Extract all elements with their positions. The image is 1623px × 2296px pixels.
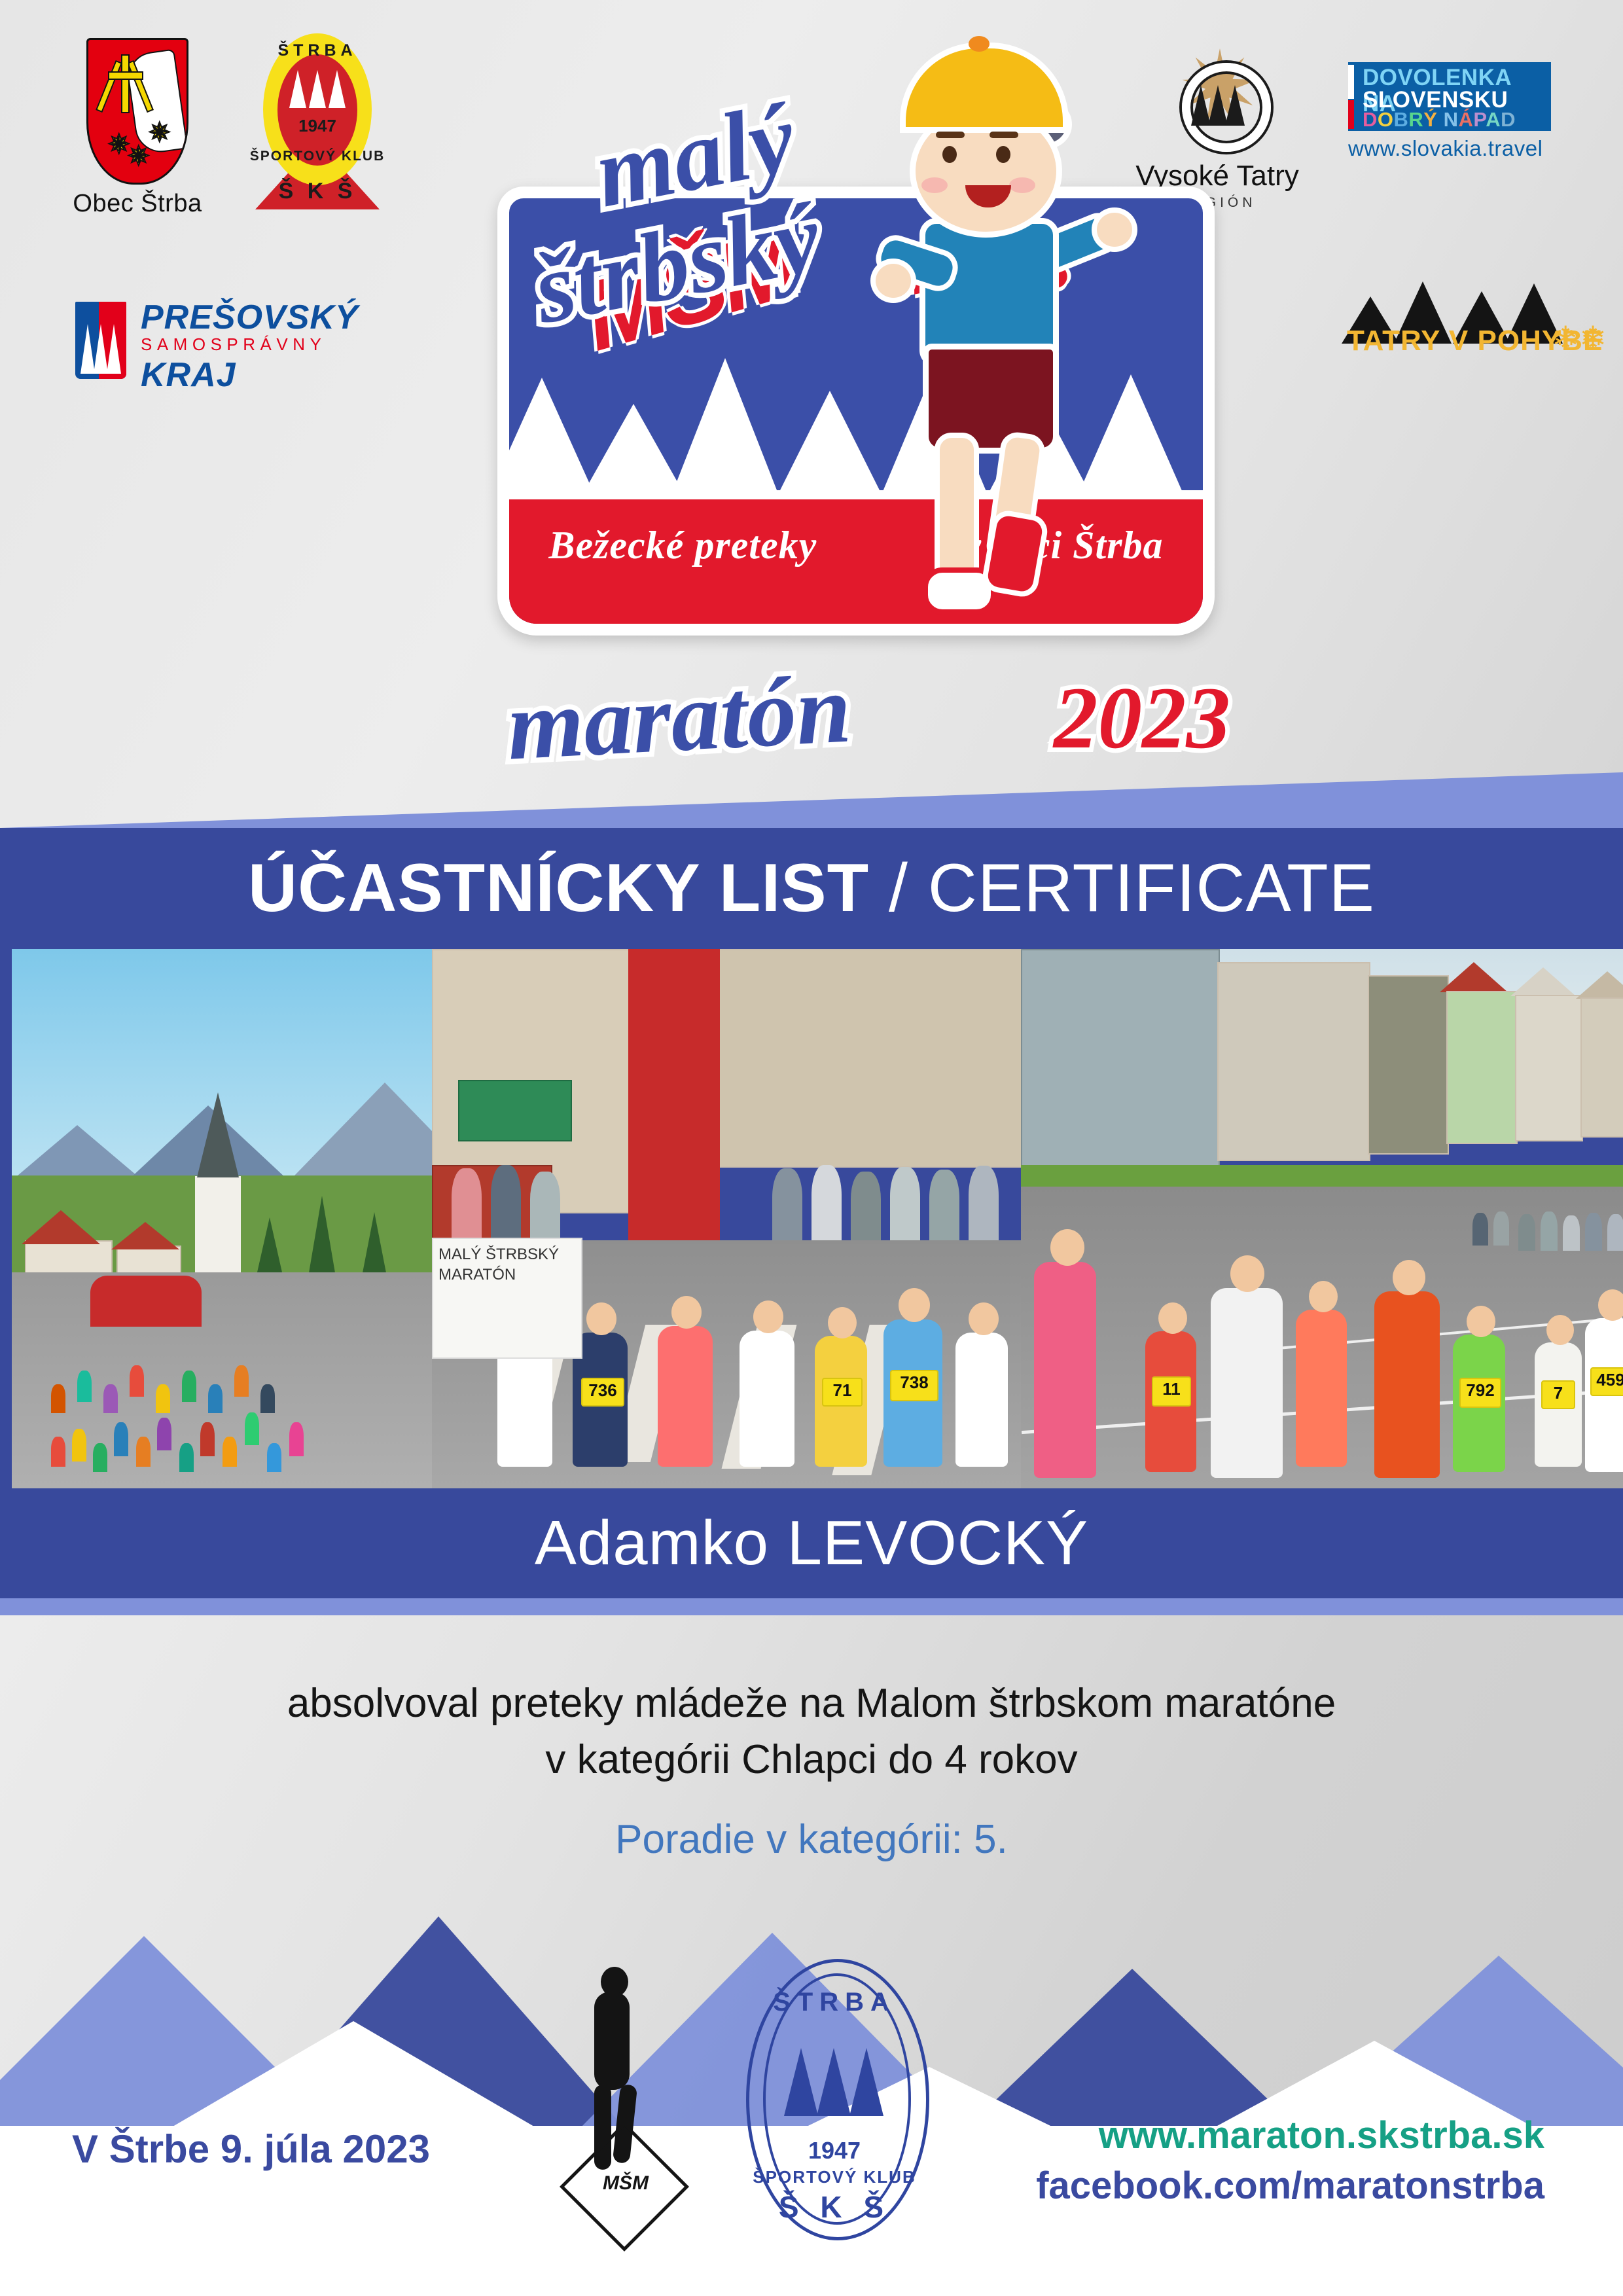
- psk-line3: KRAJ: [141, 355, 236, 395]
- coat-of-arms-icon: ✵ ✵ ✵: [86, 38, 188, 185]
- mountain-icon: [289, 63, 346, 108]
- race-bib: 7: [1541, 1380, 1575, 1409]
- title-secondary: CERTIFICATE: [928, 850, 1375, 926]
- msm-runner-label: MŠM: [586, 2172, 665, 2195]
- certificate-body: absolvoval preteky mládeže na Malom štrb…: [0, 1676, 1623, 1787]
- footer-date: V Štrbe 9. júla 2023: [72, 2126, 430, 2172]
- page-title: ÚČASTNÍCKY LIST / CERTIFICATE: [248, 850, 1375, 927]
- category-rank: Poradie v kategórii: 5.: [0, 1816, 1623, 1863]
- event-year: 2023: [1054, 668, 1230, 769]
- photo-youth-race-start: 736 71 738 MALÝ ŠTRBSKÝ MARATÓN: [432, 949, 1021, 1488]
- sponsor-logo-sks-strba: ŠTRBA 1947 ŠPORTOVÝ KLUB Š K Š: [249, 29, 386, 209]
- race-bib: 459: [1590, 1367, 1623, 1396]
- mascot-boy-icon: [844, 36, 1126, 625]
- sks-footer-top: ŠTRBA: [726, 1988, 942, 2017]
- psk-line1: PREŠOVSKÝ: [141, 298, 359, 337]
- race-bib: 736: [581, 1378, 624, 1407]
- race-bib: 792: [1459, 1378, 1501, 1408]
- photo-village-aerial: [12, 949, 444, 1488]
- race-bib: 71: [822, 1378, 863, 1407]
- participant-name-band: Adamko LEVOCKÝ: [0, 1488, 1623, 1598]
- event-word-maraton: maratón: [505, 652, 853, 782]
- sks-top-arc: ŠTRBA: [249, 41, 386, 60]
- sks-bottom-arc: ŠPORTOVÝ KLUB: [249, 149, 386, 164]
- decorative-wedge-top: [0, 772, 1623, 828]
- decorative-wedge-name: [0, 1598, 1623, 1615]
- psk-mark-icon: [75, 302, 126, 379]
- footer-facebook-link[interactable]: facebook.com/maratonstrba: [1036, 2164, 1544, 2208]
- sponsor-logo-tatry-v-pohybe: TATRY V POHYBE ❄❄: [1322, 262, 1610, 376]
- sks-abbrev: Š K Š: [249, 179, 386, 204]
- title-separator: /: [869, 850, 928, 926]
- race-bib: 738: [890, 1370, 938, 1401]
- sponsor-logo-slovakia-travel: DOVOLENKA NA SLOVENSKU DOBRÝ NÁPAD www.s…: [1348, 62, 1577, 180]
- banner-left: Bežecké preteky: [548, 524, 817, 567]
- title-main: ÚČASTNÍCKY LIST: [248, 850, 869, 926]
- sks-footer-logo: ŠTRBA 1947 ŠPORTOVÝ KLUB Š K Š: [726, 1959, 942, 2234]
- certificate-footer: V Štrbe 9. júla 2023 MŠM ŠTRBA 1947 ŠPOR…: [0, 1890, 1623, 2296]
- sponsor-logo-presovsky-kraj: PREŠOVSKÝ SAMOSPRÁVNY KRAJ: [75, 298, 416, 389]
- race-photo-strip: 736 71 738 MALÝ ŠTRBSKÝ MARATÓN: [0, 949, 1623, 1488]
- sks-footer-arc: ŠPORTOVÝ KLUB: [726, 2167, 942, 2187]
- race-bib: 11: [1152, 1376, 1191, 1407]
- participant-name: Adamko LEVOCKÝ: [535, 1507, 1088, 1579]
- body-line-2: v kategórii Chlapci do 4 rokov: [0, 1732, 1623, 1788]
- body-line-1: absolvoval preteky mládeže na Malom štrb…: [0, 1676, 1623, 1732]
- certificate-page: ✵ ✵ ✵ Obec Štrba ŠTRBA 1947 ŠPORTOVÝ KLU…: [0, 0, 1623, 2296]
- msm-runner-logo: MŠM: [563, 1965, 687, 2221]
- edelweiss-flowers-icon: ❄❄: [1552, 319, 1607, 357]
- footer-links: www.maraton.skstrba.sk facebook.com/mara…: [1036, 2113, 1544, 2208]
- sks-footer-bottom: Š K Š: [726, 2189, 942, 2225]
- sks-year: 1947: [249, 116, 386, 136]
- slovakia-travel-url[interactable]: www.slovakia.travel: [1348, 136, 1577, 161]
- sks-footer-year: 1947: [726, 2137, 942, 2164]
- footer-website-link[interactable]: www.maraton.skstrba.sk: [1036, 2113, 1544, 2157]
- photo-banner: MALÝ ŠTRBSKÝ MARATÓN: [432, 1238, 582, 1359]
- photo-family-race: 11 792 7 459: [1021, 949, 1623, 1488]
- obec-strba-label: Obec Štrba: [62, 190, 213, 218]
- event-logo: Bežecké preteky v obci Štrba MŠM 45. mal…: [393, 36, 1237, 802]
- certificate-title-band: ÚČASTNÍCKY LIST / CERTIFICATE: [0, 828, 1623, 949]
- psk-line2: SAMOSPRÁVNY: [141, 334, 326, 355]
- sponsor-logo-obec-strba: ✵ ✵ ✵ Obec Štrba: [62, 38, 213, 218]
- mountain-outline-icon: [784, 2037, 889, 2116]
- slovakia-line3: DOBRÝ NÁPAD: [1363, 108, 1516, 131]
